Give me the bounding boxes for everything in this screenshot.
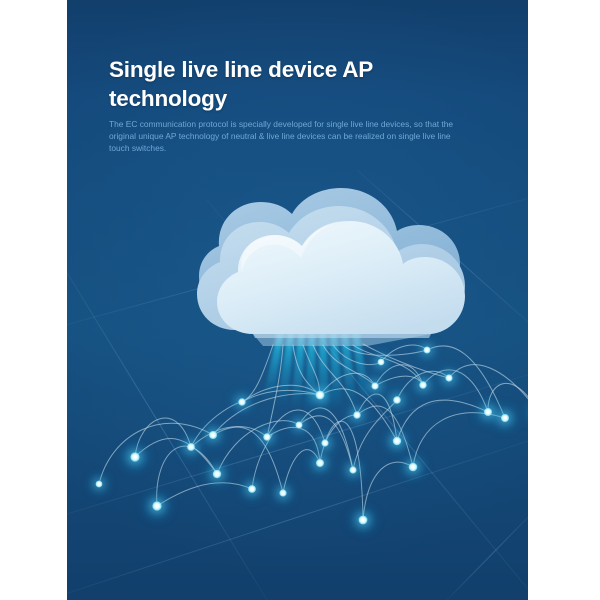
hero-text-block: Single live line device AP technology Th… — [109, 55, 474, 154]
page-title: Single live line device AP technology — [109, 55, 474, 114]
hero-panel: Single live line device AP technology Th… — [67, 0, 528, 600]
page-root: Single live line device AP technology Th… — [0, 0, 600, 600]
hero-description: The EC communication protocol is special… — [109, 118, 461, 155]
